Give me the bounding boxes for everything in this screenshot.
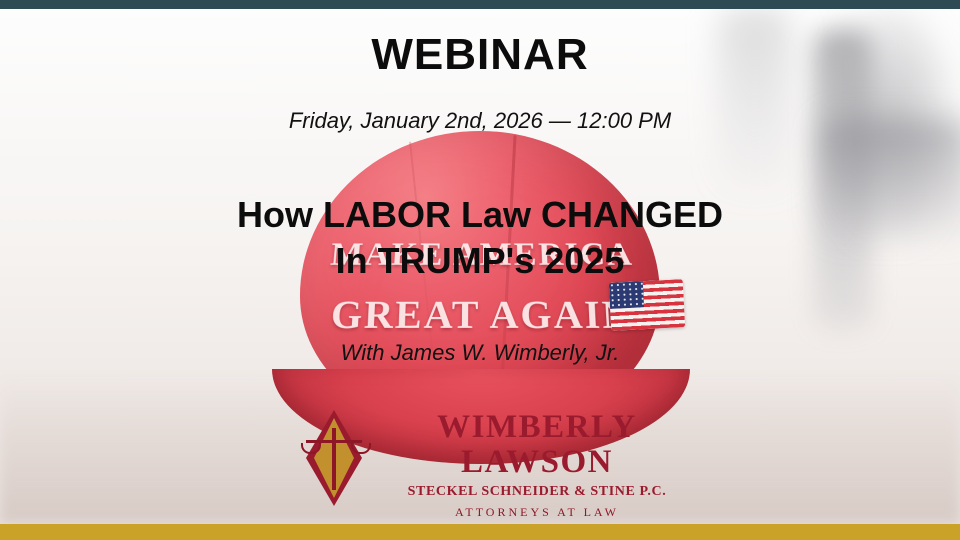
firm-logo: WIMBERLY LAWSON STECKEL SCHNEIDER & STIN… (272, 404, 692, 512)
webinar-label: WEBINAR (0, 30, 960, 80)
firm-logo-text: WIMBERLY LAWSON STECKEL SCHNEIDER & STIN… (384, 410, 690, 535)
headline-line-1: How LABOR Law CHANGED (237, 194, 723, 235)
firm-practice-line: ATTORNEYS AT LAW (384, 505, 690, 520)
bottom-accent-bar (0, 524, 960, 540)
logo-scale-pan-right (351, 443, 371, 454)
scales-of-justice-icon (282, 406, 382, 510)
firm-subname: STECKEL SCHNEIDER & STINE P.C. (384, 484, 690, 500)
firm-name: WIMBERLY LAWSON (384, 410, 690, 479)
logo-scale-post (332, 428, 336, 490)
webinar-datetime: Friday, January 2nd, 2026 — 12:00 PM (0, 108, 960, 134)
presenter-name: With James W. Wimberly, Jr. (0, 340, 960, 366)
webinar-slide: MAKE AMERICA GREAT AGAIN WEBINAR Friday,… (0, 0, 960, 540)
webinar-headline: How LABOR Law CHANGED In TRUMP's 2025 (0, 192, 960, 284)
slide-content: WEBINAR Friday, January 2nd, 2026 — 12:0… (0, 0, 960, 540)
headline-line-2: In TRUMP's 2025 (0, 238, 960, 284)
